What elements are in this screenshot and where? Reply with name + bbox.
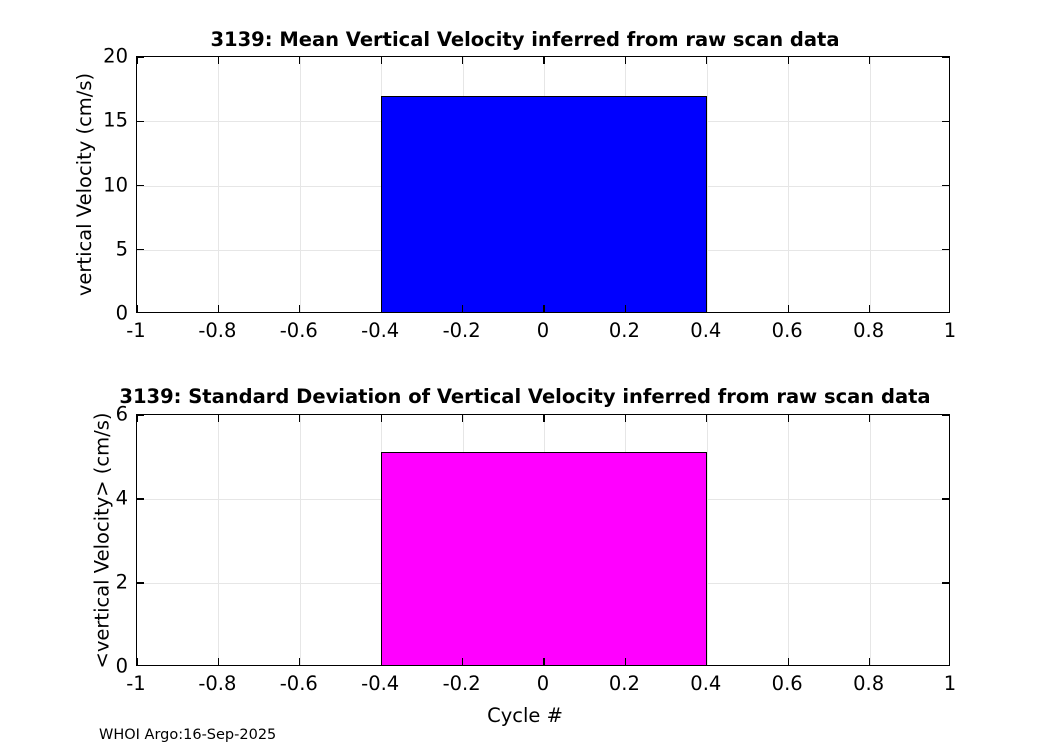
- x-tick-label: 0: [537, 672, 549, 695]
- x-tick-mark: [625, 658, 626, 665]
- x-tick-label: 0.8: [853, 672, 884, 695]
- x-tick-mark: [788, 305, 789, 312]
- x-tick-mark: [706, 658, 707, 665]
- y-tick-label: 0: [58, 302, 128, 325]
- x-tick-mark: [869, 57, 870, 64]
- x-tick-label: 0.4: [690, 672, 721, 695]
- x-tick-label: 0.4: [690, 319, 721, 342]
- x-tick-label: -0.6: [280, 319, 318, 342]
- x-tick-mark: [299, 57, 300, 64]
- x-tick-mark: [788, 57, 789, 64]
- x-tick-mark: [625, 415, 626, 422]
- y-tick-mark: [137, 414, 144, 415]
- x-tick-mark: [869, 658, 870, 665]
- x-tick-mark: [788, 658, 789, 665]
- x-tick-label: -0.4: [361, 319, 399, 342]
- x-tick-mark: [462, 658, 463, 665]
- y-tick-mark: [137, 498, 144, 499]
- x-tick-mark: [299, 658, 300, 665]
- x-tick-label: 0.2: [609, 672, 640, 695]
- x-tick-mark: [299, 305, 300, 312]
- x-tick-mark: [543, 305, 544, 312]
- x-tick-mark: [136, 658, 137, 665]
- x-tick-label: -0.8: [198, 672, 236, 695]
- x-tick-label: -0.2: [443, 319, 481, 342]
- y-tick-mark: [942, 185, 949, 186]
- y-tick-mark: [942, 582, 949, 583]
- x-tick-mark: [462, 415, 463, 422]
- x-tick-label: -0.2: [443, 672, 481, 695]
- y-tick-label: 10: [58, 173, 128, 196]
- subplot-2-x-axis-label: Cycle #: [0, 704, 1050, 727]
- subplot-2-y-axis-label: <vertical Velocity> (cm/s): [90, 412, 113, 668]
- x-tick-mark: [381, 305, 382, 312]
- x-tick-mark: [218, 415, 219, 422]
- x-tick-mark: [543, 658, 544, 665]
- x-tick-mark: [462, 305, 463, 312]
- bar: [381, 96, 707, 313]
- x-tick-label: -0.8: [198, 319, 236, 342]
- y-tick-label: 15: [58, 109, 128, 132]
- subplot-2-title: 3139: Standard Deviation of Vertical Vel…: [0, 385, 1050, 408]
- y-tick-mark: [942, 249, 949, 250]
- x-tick-label: -0.4: [361, 672, 399, 695]
- gridline-vertical: [870, 57, 871, 312]
- x-tick-mark: [706, 57, 707, 64]
- y-tick-label: 20: [58, 45, 128, 68]
- subplot-1-title: 3139: Mean Vertical Velocity inferred fr…: [0, 28, 1050, 51]
- x-tick-mark: [136, 57, 137, 64]
- gridline-vertical: [707, 57, 708, 312]
- x-tick-mark: [299, 415, 300, 422]
- gridline-vertical: [870, 415, 871, 665]
- x-tick-mark: [543, 57, 544, 64]
- y-tick-label: 2: [58, 571, 128, 594]
- x-tick-label: 0.8: [853, 319, 884, 342]
- gridline-vertical: [300, 415, 301, 665]
- x-tick-label: -1: [126, 672, 145, 695]
- y-tick-label: 4: [58, 487, 128, 510]
- x-tick-mark: [869, 305, 870, 312]
- y-tick-mark: [942, 498, 949, 499]
- x-tick-mark: [218, 658, 219, 665]
- x-tick-label: 1: [944, 319, 956, 342]
- x-tick-mark: [706, 415, 707, 422]
- x-tick-mark: [218, 305, 219, 312]
- footer-attribution: WHOI Argo:16-Sep-2025: [99, 727, 276, 743]
- y-tick-mark: [942, 121, 949, 122]
- x-tick-label: -1: [126, 319, 145, 342]
- y-tick-label: 0: [58, 655, 128, 678]
- x-tick-mark: [869, 415, 870, 422]
- x-tick-mark: [706, 305, 707, 312]
- x-tick-mark: [218, 57, 219, 64]
- gridline-vertical: [300, 57, 301, 312]
- y-tick-mark: [137, 121, 144, 122]
- figure-canvas: 3139: Mean Vertical Velocity inferred fr…: [0, 0, 1050, 750]
- gridline-vertical: [218, 57, 219, 312]
- y-tick-mark: [137, 249, 144, 250]
- bar: [381, 452, 707, 666]
- y-tick-mark: [137, 185, 144, 186]
- y-tick-mark: [942, 56, 949, 57]
- subplot-2-plot-area: [136, 414, 950, 666]
- x-tick-mark: [543, 415, 544, 422]
- x-tick-mark: [462, 57, 463, 64]
- x-tick-label: -0.6: [280, 672, 318, 695]
- x-tick-mark: [625, 57, 626, 64]
- x-tick-mark: [625, 305, 626, 312]
- gridline-vertical: [707, 415, 708, 665]
- x-tick-mark: [136, 305, 137, 312]
- x-tick-label: 1: [944, 672, 956, 695]
- subplot-1-plot-area: [136, 56, 950, 313]
- x-tick-label: 0.2: [609, 319, 640, 342]
- y-tick-mark: [137, 56, 144, 57]
- y-tick-label: 5: [58, 237, 128, 260]
- x-tick-label: 0.6: [772, 672, 803, 695]
- x-tick-mark: [381, 658, 382, 665]
- x-tick-label: 0: [537, 319, 549, 342]
- gridline-vertical: [788, 415, 789, 665]
- x-tick-mark: [381, 57, 382, 64]
- x-tick-label: 0.6: [772, 319, 803, 342]
- x-tick-mark: [381, 415, 382, 422]
- gridline-vertical: [218, 415, 219, 665]
- y-tick-mark: [942, 414, 949, 415]
- x-tick-mark: [788, 415, 789, 422]
- y-tick-label: 6: [58, 403, 128, 426]
- x-tick-mark: [136, 415, 137, 422]
- y-tick-mark: [137, 582, 144, 583]
- gridline-vertical: [788, 57, 789, 312]
